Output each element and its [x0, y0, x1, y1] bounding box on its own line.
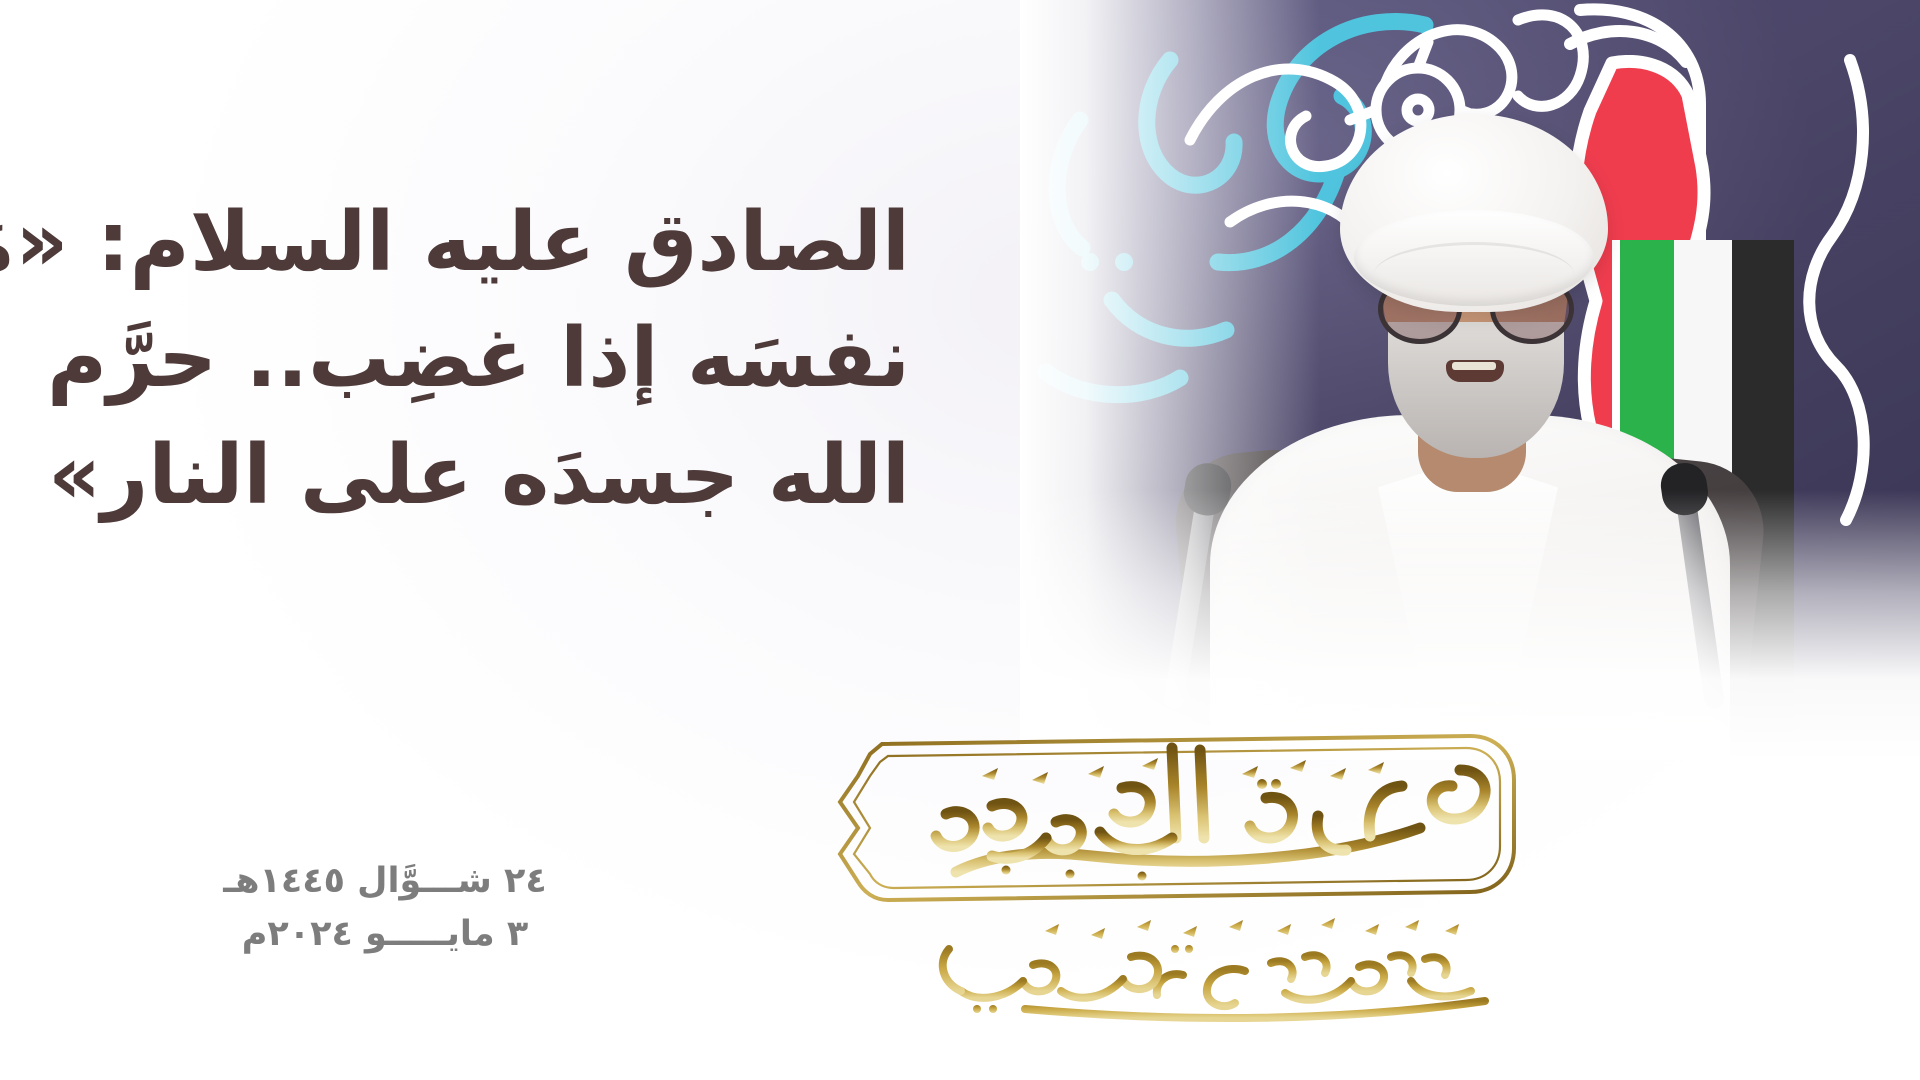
mouth	[1446, 360, 1504, 382]
turban	[1340, 114, 1608, 312]
date-block: ٢٤ شـــوَّال ١٤٤٥هـ ٣ مايـــــو ٢٠٢٤م	[0, 855, 770, 960]
speaker-figure	[1150, 60, 1790, 760]
hijri-date: ٢٤ شـــوَّال ١٤٤٥هـ	[0, 855, 770, 908]
friday-sermon-emblem: خطبة الجمعة	[770, 710, 1550, 920]
quote-block: الصادق عليه السلام: «مَن ملك نفسَه إذا غ…	[70, 185, 910, 534]
quote-line-1: الصادق عليه السلام: «مَن ملك	[70, 185, 910, 301]
speaker-photo	[1020, 0, 1920, 760]
speaker-name-calligraphy: الشيخ محمد صنقور علي	[825, 905, 1525, 1025]
quote-line-2: نفسَه إذا غضِب.. حرَّم	[70, 301, 910, 417]
quote-line-3: الله جسدَه على النار»	[70, 418, 910, 534]
sermon-quote-card: الصادق عليه السلام: «مَن ملك نفسَه إذا غ…	[0, 0, 1920, 1080]
gregorian-date: ٣ مايـــــو ٢٠٢٤م	[0, 908, 770, 961]
